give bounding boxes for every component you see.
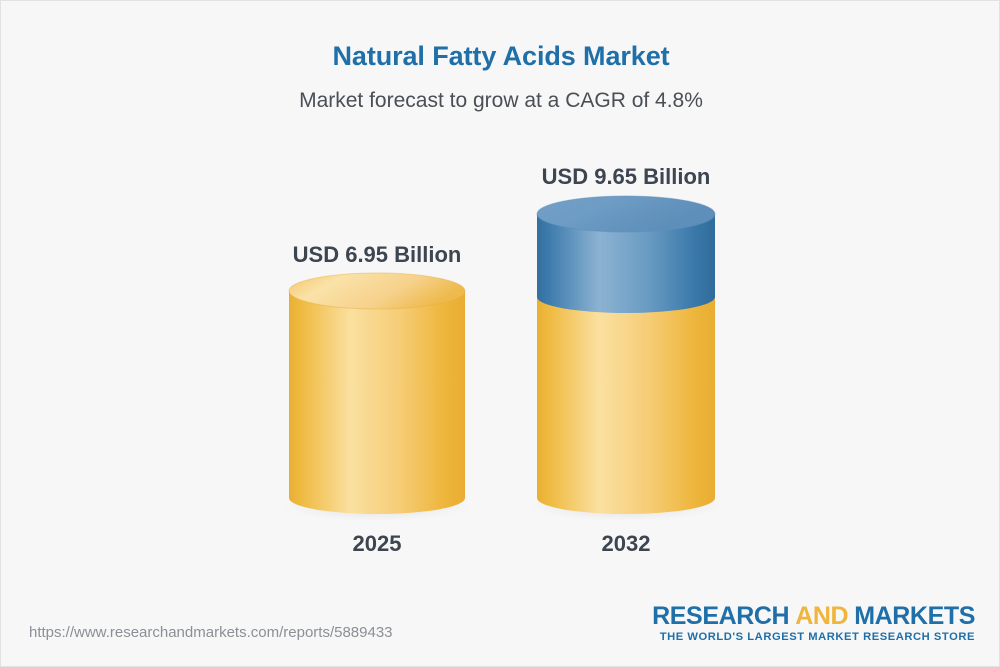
cylinder-bars-svg: [1, 1, 1000, 667]
bar-value-label-2032: USD 9.65 Billion: [537, 164, 715, 190]
bar-2032-segment-base: [537, 297, 715, 514]
bar-value-label-2025: USD 6.95 Billion: [289, 242, 465, 268]
bar-2025-body: [289, 291, 465, 514]
source-url[interactable]: https://www.researchandmarkets.com/repor…: [29, 624, 393, 641]
x-axis-label-2032: 2032: [537, 531, 715, 557]
bar-2025[interactable]: [281, 273, 473, 522]
brand-word-markets: MARKETS: [854, 602, 975, 630]
brand-word-and: AND: [795, 602, 848, 630]
infographic-canvas: Natural Fatty Acids Market Market foreca…: [0, 0, 1000, 667]
brand-tagline: THE WORLD'S LARGEST MARKET RESEARCH STOR…: [652, 630, 975, 645]
brand-word-research: RESEARCH: [652, 602, 789, 630]
bar-2032[interactable]: [528, 196, 724, 522]
brand-wordmark: RESEARCHANDMARKETS: [652, 602, 975, 630]
brand-logo[interactable]: RESEARCHANDMARKETS THE WORLD'S LARGEST M…: [652, 602, 975, 645]
chart-plot-area: USD 6.95 Billion USD 9.65 Billion 2025 2…: [1, 1, 1000, 667]
x-axis-label-2025: 2025: [289, 531, 465, 557]
